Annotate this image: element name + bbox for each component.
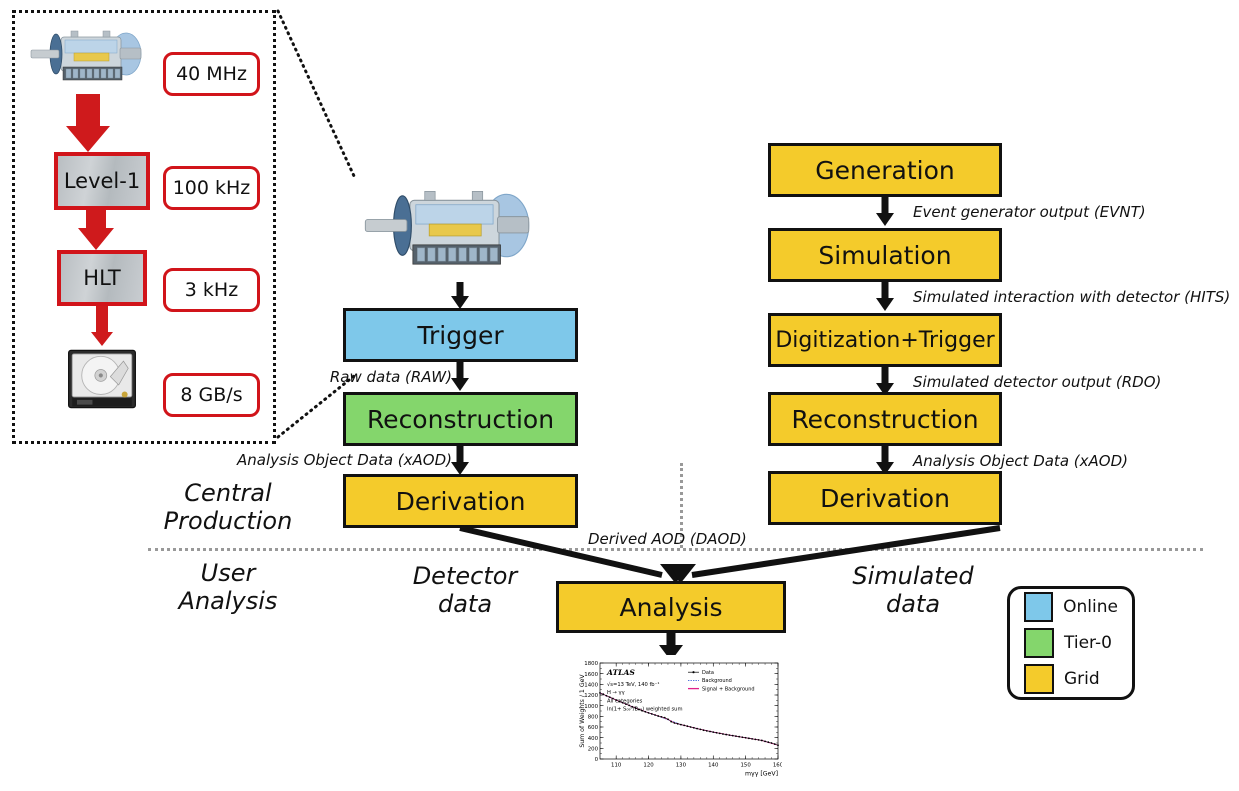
- label-simulated-data: Simulated data: [818, 563, 1008, 618]
- rate-box-100khz-label: 100 kHz: [173, 177, 251, 199]
- box-reconstruction-data[interactable]: Reconstruction: [343, 392, 578, 446]
- legend-swatch-tier0: [1024, 628, 1054, 658]
- legend-label-tier0: Tier-0: [1064, 633, 1112, 653]
- svg-text:1400: 1400: [584, 683, 598, 689]
- legend-label-grid: Grid: [1064, 669, 1100, 689]
- label-detector-data: Detector data: [370, 563, 560, 618]
- svg-text:Signal + Background: Signal + Background: [702, 686, 755, 692]
- arrow-generation-to-simulation: [865, 197, 905, 227]
- svg-text:H → γγ: H → γγ: [607, 690, 625, 696]
- svg-text:800: 800: [588, 715, 599, 721]
- box-generation[interactable]: Generation: [768, 143, 1002, 197]
- svg-text:1000: 1000: [584, 704, 598, 710]
- box-analysis[interactable]: Analysis: [556, 581, 786, 633]
- rate-box-100khz: 100 kHz: [163, 166, 260, 210]
- svg-text:ln(1+ S₀₉ᵇ/B₀₉) weighted sum: ln(1+ S₀₉ᵇ/B₀₉) weighted sum: [607, 707, 683, 713]
- box-digitization-trigger-label: Digitization+Trigger: [775, 328, 994, 353]
- svg-text:0: 0: [595, 757, 599, 763]
- flow-label-raw-data: Raw data (RAW): [202, 368, 452, 386]
- svg-text:150: 150: [740, 763, 751, 769]
- rate-box-8gbs-label: 8 GB/s: [180, 384, 242, 406]
- flow-label-xaod-mc: Analysis Object Data (xAOD): [913, 452, 1128, 470]
- arrow-simulation-to-digitization: [865, 282, 905, 312]
- inset-stage-level1-label: Level-1: [64, 169, 140, 193]
- inset-stage-hlt-label: HLT: [83, 266, 120, 290]
- inset-stage-hlt: HLT: [57, 250, 147, 306]
- inset-arrow-detector-to-level1: [58, 94, 118, 152]
- box-trigger[interactable]: Trigger: [343, 308, 578, 362]
- label-user-analysis: User Analysis: [148, 560, 308, 615]
- svg-text:130: 130: [676, 763, 687, 769]
- label-central-production: Central Production: [148, 480, 308, 535]
- flow-label-rdo: Simulated detector output (RDO): [913, 373, 1161, 391]
- box-trigger-label: Trigger: [417, 321, 503, 350]
- svg-text:400: 400: [588, 736, 599, 742]
- atlas-diphoton-plot: 0200400600800100012001400160018001101201…: [552, 655, 782, 787]
- rate-box-40mhz-label: 40 MHz: [176, 63, 247, 85]
- box-derivation-data-label: Derivation: [396, 487, 526, 516]
- box-reconstruction-mc[interactable]: Reconstruction: [768, 392, 1002, 446]
- box-simulation-label: Simulation: [818, 241, 951, 270]
- box-digitization-trigger[interactable]: Digitization+Trigger: [768, 313, 1002, 367]
- inset-disk-icon: [66, 348, 138, 410]
- inset-arrow-level1-to-hlt: [66, 210, 126, 252]
- svg-text:Data: Data: [702, 670, 714, 676]
- legend-item-tier0: Tier-0: [1024, 628, 1118, 658]
- box-generation-label: Generation: [815, 156, 954, 185]
- inset-detector-icon: [28, 22, 148, 92]
- svg-text:mγγ [GeV]: mγγ [GeV]: [745, 771, 778, 778]
- inset-stage-level1: Level-1: [54, 152, 150, 210]
- svg-text:1200: 1200: [584, 693, 598, 699]
- rate-box-3khz: 3 kHz: [163, 268, 260, 312]
- diagram-canvas: Level-1 HLT 40 MHz 100 kHz 3 kHz 8 GB/s: [0, 0, 1239, 791]
- svg-text:ATLAS: ATLAS: [606, 668, 635, 677]
- inset-arrow-hlt-to-disk: [74, 306, 130, 350]
- svg-text:110: 110: [611, 763, 622, 769]
- svg-text:Background: Background: [702, 678, 732, 684]
- legend-label-online: Online: [1063, 597, 1118, 617]
- rate-box-3khz-label: 3 kHz: [185, 279, 238, 301]
- box-reconstruction-data-label: Reconstruction: [367, 405, 554, 434]
- flow-label-hits: Simulated interaction with detector (HIT…: [913, 288, 1230, 306]
- svg-text:1800: 1800: [584, 661, 598, 667]
- flow-label-daod: Derived AOD (DAOD): [588, 530, 747, 548]
- box-analysis-label: Analysis: [619, 593, 722, 622]
- svg-text:600: 600: [588, 725, 599, 731]
- svg-text:1600: 1600: [584, 672, 598, 678]
- legend: Online Tier-0 Grid: [1007, 586, 1135, 700]
- svg-text:200: 200: [588, 747, 599, 753]
- svg-text:√s=13 TeV, 140 fb⁻¹: √s=13 TeV, 140 fb⁻¹: [607, 681, 659, 688]
- box-derivation-mc[interactable]: Derivation: [768, 471, 1002, 525]
- flow-label-evnt: Event generator output (EVNT): [913, 203, 1146, 221]
- legend-swatch-online: [1024, 592, 1053, 622]
- svg-text:Sum of Weights / 1 GeV: Sum of Weights / 1 GeV: [579, 674, 586, 748]
- atlas-diphoton-plot-svg: 0200400600800100012001400160018001101201…: [552, 655, 782, 787]
- svg-text:140: 140: [708, 763, 719, 769]
- flow-label-xaod-data: Analysis Object Data (xAOD): [172, 451, 452, 469]
- arrow-detector-to-trigger: [440, 282, 480, 310]
- svg-text:160: 160: [773, 763, 782, 769]
- legend-swatch-grid: [1024, 664, 1054, 694]
- svg-text:All categories: All categories: [607, 698, 643, 704]
- detector-column-detector-icon: [355, 178, 545, 282]
- legend-item-online: Online: [1024, 592, 1118, 622]
- svg-text:120: 120: [643, 763, 654, 769]
- box-derivation-mc-label: Derivation: [820, 484, 950, 513]
- legend-item-grid: Grid: [1024, 664, 1118, 694]
- box-reconstruction-mc-label: Reconstruction: [791, 405, 978, 434]
- rate-box-40mhz: 40 MHz: [163, 52, 260, 96]
- box-simulation[interactable]: Simulation: [768, 228, 1002, 282]
